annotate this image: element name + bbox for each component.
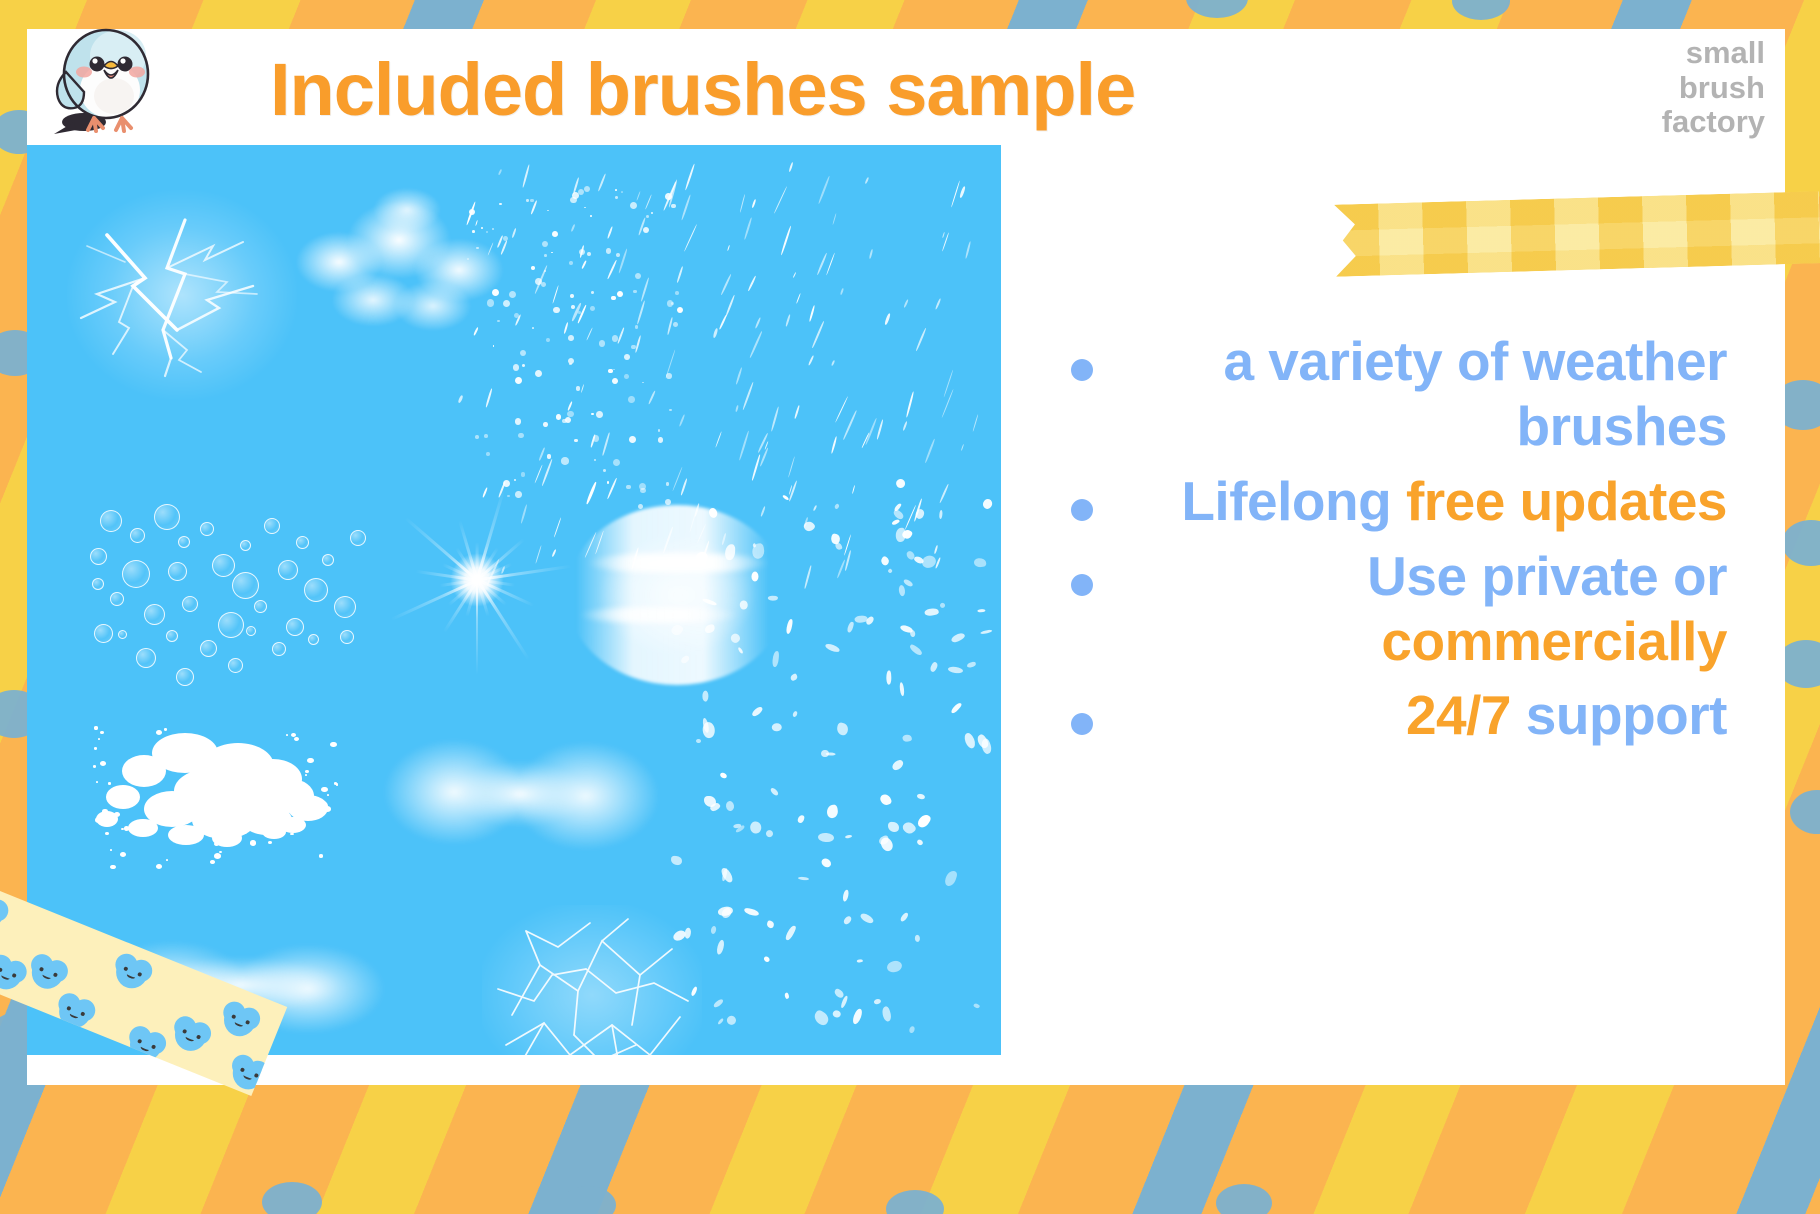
snow-dot [487, 299, 494, 306]
snow-dot [472, 230, 475, 233]
bubble [100, 510, 122, 532]
hail-fleck [740, 600, 748, 610]
snow-dot [590, 306, 595, 311]
hail-fleck [764, 829, 774, 839]
heart-sticker-icon [0, 890, 12, 936]
hail-fleck [892, 508, 905, 520]
snow-dot [484, 434, 488, 438]
rain-streak [457, 394, 463, 403]
hail-fleck [671, 855, 683, 865]
hail-fleck [702, 597, 718, 606]
foam-speck [159, 804, 167, 810]
hail-fleck [939, 601, 946, 608]
snow-dot [553, 307, 559, 313]
snow-dot [503, 480, 510, 487]
bubble [304, 578, 328, 602]
heart-sticker-icon [215, 998, 263, 1044]
rain-streak [915, 327, 926, 351]
snow-dot [535, 370, 542, 377]
snow-dot [639, 483, 646, 490]
rain-streak [738, 430, 749, 460]
hail-fleck [772, 723, 782, 732]
snow-dot [579, 249, 585, 255]
rain-streak [749, 331, 762, 358]
snow-dot [522, 364, 525, 367]
hail-fleck [790, 673, 799, 681]
rain-streak [942, 232, 945, 238]
hail-fleck [710, 926, 717, 935]
rain-streak [774, 186, 788, 214]
snow-dot [673, 322, 678, 327]
rain-streak [759, 448, 768, 468]
hail-fleck [950, 701, 962, 714]
foam-speck [96, 781, 98, 783]
bubble [232, 572, 259, 599]
hail-fleck [826, 805, 839, 819]
hail-fleck [725, 544, 736, 560]
rain-streak [793, 272, 797, 278]
rain-streak [884, 313, 890, 325]
rain-streak [498, 169, 502, 175]
hail-fleck [690, 986, 698, 997]
hail-fleck [845, 834, 853, 838]
foam-speck [243, 830, 247, 833]
poster-stage: Included brushes sample small brush fact… [0, 0, 1820, 1214]
snow-dot [514, 479, 516, 481]
hail-fleck [908, 644, 923, 657]
snow-dot [642, 382, 644, 384]
snow-dot [515, 491, 521, 497]
foam-speck [284, 791, 288, 794]
lightning-bolt-strokes [67, 190, 302, 405]
foam-blob [122, 755, 166, 787]
hail-fleck [842, 889, 849, 901]
hail-fleck [852, 1008, 864, 1025]
feature-segment: support [1511, 684, 1727, 746]
hail-fleck [939, 510, 943, 520]
snow-dot [584, 186, 590, 192]
foam-speck [133, 762, 137, 765]
snow-dot [569, 363, 571, 365]
hail-fleck [857, 958, 863, 963]
hail-fleck [908, 1025, 916, 1034]
bubbles-brush-icon [82, 500, 362, 690]
hail-fleck [782, 495, 790, 502]
bubble [264, 518, 280, 534]
hail-fleck [817, 833, 834, 844]
foam-speck [268, 841, 272, 845]
hail-fleck [751, 572, 758, 582]
rain-streak [941, 389, 954, 419]
rain-streak [972, 414, 978, 431]
rain-streak [751, 199, 755, 208]
bubble [200, 640, 217, 657]
rain-streak [785, 314, 791, 327]
hail-fleck [886, 960, 903, 974]
rain-streak [808, 355, 815, 366]
rain-streak [770, 407, 779, 432]
snow-dot [515, 418, 522, 425]
snow-dot [547, 454, 551, 458]
foam-blob [262, 825, 286, 839]
foam-speck [214, 853, 221, 859]
hail-fleck [859, 912, 875, 925]
hail-fleck [726, 1014, 738, 1026]
snow-dot [492, 289, 499, 296]
header-bar: Included brushes sample small brush fact… [27, 29, 1785, 145]
snow-dot [591, 291, 594, 294]
snow-dot [571, 305, 575, 309]
rain-streak [924, 438, 935, 463]
feature-item-private-or-commercial: Use private or commercially [1027, 544, 1779, 674]
snow-dot [509, 291, 516, 298]
hail-fleck [924, 607, 939, 616]
snow-dot [615, 189, 617, 191]
snow-dot [561, 457, 568, 464]
hail-fleck [901, 820, 917, 836]
hail-fleck [886, 670, 892, 684]
snow-dot [530, 199, 533, 202]
hail-fleck [833, 504, 839, 510]
rain-streak [868, 249, 873, 259]
snow-dot [667, 300, 673, 306]
background-dot [262, 1182, 322, 1214]
snow-dot [587, 252, 591, 256]
hail-fleck [763, 955, 771, 963]
bubble [218, 612, 244, 638]
rain-streak [735, 405, 739, 412]
snow-dot [613, 369, 615, 371]
hail-fleck [820, 856, 833, 869]
foam-speck [110, 849, 112, 851]
rain-streak [959, 186, 965, 198]
bullet-dot-icon [1071, 499, 1093, 521]
bubble [92, 578, 104, 590]
rain-streak [736, 367, 743, 385]
snow-dot [486, 231, 488, 233]
rain-streak [720, 274, 732, 296]
hail-fleck [772, 651, 779, 667]
rain-streak [903, 299, 909, 308]
hail-fleck [802, 519, 816, 533]
brush-preview-canvas [27, 145, 1001, 1055]
foam-speck [226, 811, 228, 813]
snow-dot [526, 199, 528, 201]
snow-dot [638, 504, 643, 509]
foam-speck [166, 744, 168, 746]
foam-speck [166, 859, 169, 861]
hail-fleck [784, 992, 790, 999]
hail-fleck [963, 732, 977, 750]
rain-streak [595, 531, 604, 555]
rain-streak [944, 370, 954, 397]
foam-speck [324, 806, 331, 812]
snow-dot [615, 196, 618, 199]
snow-dot [547, 210, 549, 212]
rain-streak [796, 293, 801, 303]
hail-fleck [846, 621, 853, 633]
snow-dot [569, 261, 573, 265]
page-title: Included brushes sample [270, 53, 1135, 127]
bubble [168, 562, 187, 581]
bubble [296, 536, 309, 549]
snow-dot [646, 215, 649, 218]
rain-streak [755, 317, 762, 328]
foam-speck [336, 783, 339, 785]
foam-speck [156, 864, 162, 869]
bubble [308, 634, 319, 645]
bubble [94, 624, 113, 643]
snow-dot [596, 411, 603, 418]
feature-segment: Lifelong [1181, 470, 1406, 532]
hail-fleck [928, 661, 938, 672]
hail-fleck [729, 632, 741, 645]
hail-fleck [900, 912, 909, 922]
bubble [118, 630, 127, 639]
fluffy-cloud-brush-icon [362, 700, 682, 890]
rain-streak [551, 549, 556, 557]
snow-dot [570, 197, 577, 204]
hail-fleck [879, 793, 892, 807]
rain-streak [840, 288, 844, 295]
snow-dot [612, 335, 618, 341]
snow-dot [475, 435, 479, 439]
bubble [154, 504, 180, 530]
feature-segment: 24/7 [1406, 684, 1511, 746]
feature-list: a variety of weather brushesLifelong fre… [1027, 329, 1779, 758]
snow-dot [612, 378, 618, 384]
foam-blob [128, 819, 158, 837]
bullet-dot-icon [1071, 359, 1093, 381]
snow-dot [629, 436, 636, 443]
hail-fleck [751, 706, 764, 718]
rain-streak [960, 444, 963, 451]
snow-dot [675, 291, 679, 295]
hail-fleck [766, 920, 775, 929]
snow-dot [677, 307, 683, 313]
bubble [90, 548, 107, 565]
hail-fleck [914, 507, 925, 519]
rain-streak [536, 545, 543, 563]
rain-streak [876, 419, 884, 440]
snow-dot [633, 290, 636, 293]
bubble [130, 528, 145, 543]
bubble [278, 560, 298, 580]
bubble [182, 596, 198, 612]
snow-dot [499, 203, 501, 205]
hail-fleck [903, 579, 914, 588]
feature-label: Lifelong free updates [1119, 469, 1779, 534]
hail-fleck [703, 722, 716, 739]
snow-dot [556, 414, 561, 419]
rain-streak [725, 294, 736, 318]
hail-fleck [767, 595, 778, 601]
rain-streak [831, 436, 838, 454]
feature-segment: a variety of weather brushes [1223, 330, 1727, 457]
snow-dot [671, 204, 676, 209]
bubble [240, 540, 251, 551]
hail-fleck [881, 1006, 894, 1023]
feature-item-lifelong-free-updates: Lifelong free updates [1027, 469, 1779, 534]
bubble [200, 522, 214, 536]
feature-segment: Use private or [1367, 545, 1727, 607]
bubble [350, 530, 366, 546]
bullet-dot-icon [1071, 713, 1093, 735]
hail-fleck [894, 477, 907, 490]
foam-speck [250, 840, 256, 845]
snow-dot [631, 345, 635, 349]
rain-streak [740, 194, 746, 212]
hail-fleck [948, 666, 964, 674]
hail-fleck [832, 1010, 841, 1019]
foam-brush-icon [92, 725, 372, 875]
snow-dot [607, 481, 609, 483]
snow-dot [613, 459, 620, 466]
bubble [136, 648, 156, 668]
rain-streak [554, 517, 562, 537]
snow-dot [544, 254, 547, 257]
foam-speck [219, 851, 222, 853]
hail-fleck [694, 550, 709, 565]
snow-dot [593, 435, 599, 441]
snow-dot [628, 396, 634, 402]
snow-dot [617, 291, 623, 297]
rain-streak [631, 548, 639, 571]
hail-fleck [981, 498, 993, 511]
heart-sticker-icon [108, 950, 156, 996]
hail-brush-icon [667, 475, 997, 1045]
foam-speck [156, 730, 162, 735]
rain-streak [826, 253, 835, 276]
snow-dot [666, 373, 671, 378]
rain-streak [864, 417, 877, 445]
feature-item-variety-weather-brushes: a variety of weather brushes [1027, 329, 1779, 459]
snow-dot [520, 350, 526, 356]
hail-fleck [751, 543, 765, 559]
foam-speck [181, 810, 184, 812]
hail-fleck [770, 787, 780, 797]
hail-fleck [696, 739, 701, 744]
foam-speck [108, 782, 111, 784]
snow-dot [546, 338, 550, 342]
foam-speck [95, 817, 102, 823]
rain-streak [935, 298, 942, 310]
foam-speck [102, 809, 107, 813]
hail-fleck [974, 1003, 981, 1009]
hail-fleck [916, 838, 924, 846]
rain-streak [865, 177, 869, 184]
snow-dot [643, 227, 649, 233]
hail-fleck [950, 631, 966, 645]
snow-dot [624, 374, 629, 379]
hail-fleck [785, 925, 797, 942]
rain-streak [808, 305, 815, 322]
snow-dot [658, 429, 660, 431]
rain-streak [818, 176, 831, 205]
brand-line-2: brush [1535, 71, 1765, 106]
snow-dot [590, 215, 592, 217]
background-dot [1216, 1184, 1272, 1214]
hail-fleck [715, 939, 725, 955]
snow-dot [507, 495, 509, 497]
snow-dot [551, 252, 553, 254]
hail-fleck [704, 796, 716, 808]
snow-dot [599, 340, 605, 346]
foam-speck [211, 789, 216, 793]
hail-fleck [903, 734, 913, 742]
foam-speck [321, 787, 328, 792]
snow-dot [626, 485, 631, 490]
foam-speck [121, 828, 124, 830]
hail-fleck [750, 821, 762, 834]
foam-speck [145, 770, 152, 776]
snow-dot [541, 282, 546, 287]
hail-fleck [899, 682, 905, 696]
bubble [110, 592, 124, 606]
snow-dot [503, 236, 508, 241]
background-dot [1782, 520, 1820, 566]
foam-speck [236, 782, 241, 786]
hail-fleck [880, 555, 891, 566]
snow-dot [467, 258, 469, 260]
hail-fleck [797, 877, 808, 881]
foam-speck [186, 779, 192, 784]
hail-fleck [703, 691, 709, 702]
hail-fleck [725, 800, 734, 811]
hail-fleck [887, 568, 893, 574]
snow-dot [616, 253, 620, 257]
brand-logotype: small brush factory [1535, 36, 1765, 140]
foam-speck [110, 865, 116, 870]
foam-speck [286, 734, 288, 736]
bubble [176, 668, 194, 686]
rain-streak [742, 382, 754, 411]
hail-fleck [915, 935, 920, 942]
foam-speck [319, 854, 323, 857]
snow-dot [486, 452, 490, 456]
snow-dot [574, 439, 577, 442]
hail-fleck [812, 1008, 831, 1026]
hail-fleck [888, 821, 899, 831]
hail-fleck [966, 661, 976, 667]
rain-streak [832, 213, 836, 224]
snow-dot [518, 433, 523, 438]
flare-ray [476, 580, 479, 675]
washi-tape-gingham-icon [1334, 191, 1820, 277]
foam-blob [106, 785, 140, 809]
bubble [212, 554, 235, 577]
hail-fleck [944, 869, 959, 887]
hail-fleck [786, 618, 793, 634]
foam-speck [120, 852, 126, 857]
snow-dot [481, 227, 483, 229]
background-dot [886, 1190, 944, 1214]
snow-dot [578, 311, 581, 314]
bubble [322, 554, 334, 566]
foam-speck [100, 761, 106, 766]
snow-brush-icon [467, 185, 687, 515]
snow-dot [514, 313, 519, 318]
foam-speck [93, 765, 96, 768]
hail-fleck [680, 654, 691, 664]
foam-blob [168, 825, 204, 845]
snow-dot [476, 247, 478, 249]
snow-dot [603, 469, 606, 472]
feature-item-support: 24/7 support [1027, 683, 1779, 748]
foam-speck [164, 728, 168, 731]
rain-streak [950, 181, 960, 208]
hail-fleck [683, 927, 691, 939]
